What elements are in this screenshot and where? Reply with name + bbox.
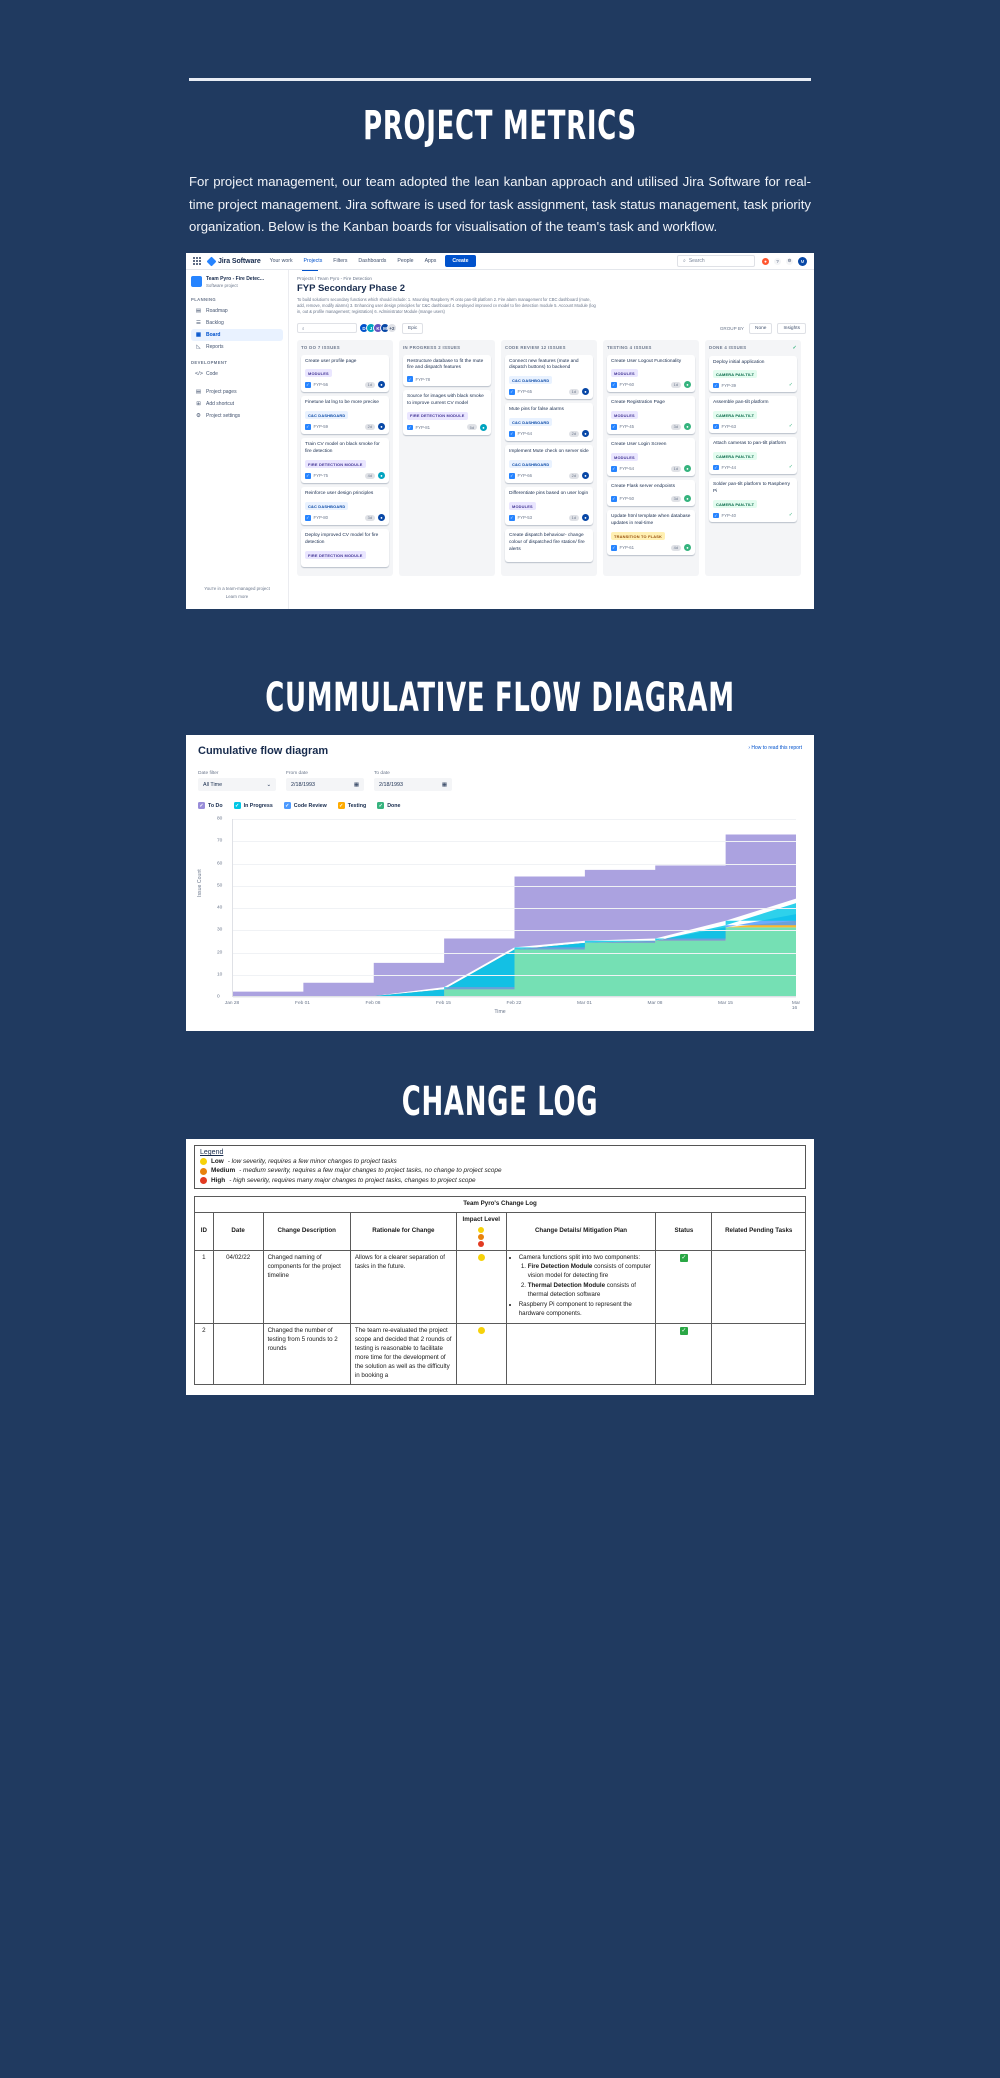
avatar[interactable]: ● [684, 544, 691, 551]
issue-key: FYP-81 [416, 425, 431, 430]
y-axis-label: Issue Count [197, 869, 203, 897]
code-icon: </> [195, 371, 202, 377]
issue-key: FYP-53 [518, 515, 533, 520]
x-tick-label: Mar 08 [648, 1001, 663, 1006]
issue-key: FYP-40 [722, 513, 737, 518]
cell-id: 2 [195, 1323, 214, 1384]
issue-estimate: 2d [569, 473, 579, 479]
issue-card[interactable]: Create dispatch behaviour- change colour… [505, 529, 593, 562]
avatar[interactable]: ● [378, 381, 385, 388]
issue-card[interactable]: Update html template when database updat… [607, 510, 695, 555]
issue-estimate: 3d [365, 515, 375, 521]
app-switcher-icon[interactable] [193, 257, 201, 265]
cell-date [213, 1323, 263, 1384]
issue-tag: TRANSITION TO FLASK [611, 532, 665, 540]
column-header: TESTING 4 ISSUES [607, 345, 695, 350]
issue-tag: MODULES [611, 411, 638, 419]
severity-dot-low-icon [200, 1158, 207, 1165]
issue-type-icon [611, 545, 617, 551]
severity-dot-medium-icon [200, 1168, 207, 1175]
sidebar-item-project-pages[interactable]: ▤Project pages [191, 386, 283, 398]
board-title: FYP Secondary Phase 2 [297, 283, 806, 294]
status-check-icon: ✓ [680, 1254, 688, 1262]
done-check-icon: ✓ [789, 512, 793, 518]
legend-item-codereview[interactable]: ✓Code Review [284, 802, 327, 809]
issue-title: Create User Logout Functionality [611, 359, 691, 366]
sidebar-item-board[interactable]: ▦Board [191, 329, 283, 341]
issue-type-icon [305, 382, 311, 388]
y-tick-label: 10 [217, 972, 222, 977]
issue-card[interactable]: Assemble pan-tilt platformCAMERA PAN-TIL… [709, 396, 797, 433]
sidebar-item-project-settings[interactable]: ⚙Project settings [191, 410, 283, 422]
legend-item-inprogress[interactable]: ✓In Progress [234, 802, 273, 809]
board-description: To build solution's secondary functions … [297, 297, 597, 315]
issue-card[interactable]: Reinforce user design principlesC&C DASH… [301, 487, 389, 525]
issue-key: FYP-63 [722, 424, 737, 429]
project-type: Software project [206, 283, 238, 288]
sidebar-footer: You're in a team-managed project Learn m… [186, 585, 288, 601]
issue-title: Create User Login Screen [611, 442, 691, 449]
group-by-select[interactable]: None [749, 323, 772, 334]
gridline [233, 841, 796, 842]
checkbox-icon[interactable]: ✓ [234, 802, 241, 809]
y-tick-label: 0 [217, 995, 220, 1000]
avatar[interactable]: ● [684, 381, 691, 388]
col-details: Change Details/ Mitigation Plan [506, 1212, 656, 1250]
issue-type-icon [713, 424, 719, 430]
gear-icon[interactable]: ⚙ [786, 258, 793, 265]
board-toolbar-right: GROUP BY None Insights [720, 323, 806, 334]
legend-title: Legend [200, 1149, 800, 1156]
insights-button[interactable]: Insights [777, 323, 806, 334]
checkbox-icon[interactable]: ✓ [198, 802, 205, 809]
issue-title: Reinforce user design principles [305, 491, 385, 498]
cfd-plot-area [232, 819, 796, 997]
shortcut-icon: ⊞ [195, 401, 202, 407]
col-impact: Impact Level [456, 1212, 506, 1250]
x-tick-label: Jan 28 [225, 1001, 239, 1006]
issue-key: FYP-75 [314, 473, 329, 478]
issue-meta: FYP-541d● [611, 465, 691, 472]
col-date: Date [213, 1212, 263, 1250]
issue-tag: MODULES [611, 369, 638, 377]
from-date-group: From date 2/18/1993▦ [286, 771, 364, 791]
legend-text: - low severity, requires a few minor cha… [228, 1157, 397, 1166]
cell-related [712, 1323, 806, 1384]
sub-item-bold: Fire Detection Module [528, 1263, 593, 1270]
member-avatars[interactable]: D J K M +2 [362, 323, 397, 333]
breadcrumb[interactable]: Projects / Team Pyro - Fire Detection [297, 276, 806, 281]
issue-meta: FYP-815d● [407, 424, 487, 431]
cfd-title: Cumulative flow diagram [198, 745, 328, 757]
sidebar-item-label: Board [206, 332, 220, 338]
jira-top-nav: Jira Software Your work Projects Filters… [186, 253, 814, 270]
cfd-legend: ✓To Do ✓In Progress ✓Code Review ✓Testin… [198, 802, 802, 809]
board-column-codereview: CODE REVIEW 12 ISSUES Connect new featur… [501, 340, 597, 577]
y-tick-label: 60 [217, 861, 222, 866]
gridline [233, 953, 796, 954]
changelog-table: Team Pyro's Change Log ID Date Change De… [194, 1196, 806, 1385]
legend-text: - medium severity, requires a few major … [239, 1166, 501, 1175]
avatar[interactable]: ● [582, 388, 589, 395]
nav-projects[interactable]: Projects [302, 255, 325, 267]
issue-tag: FIRE DETECTION MODULE [305, 551, 366, 559]
impact-dot-medium-icon [478, 1234, 484, 1240]
sidebar-item-label: Add shortcut [206, 401, 234, 407]
issue-key: FYP-60 [620, 382, 635, 387]
team-managed-note: You're in a team-managed project [186, 585, 288, 593]
avatar[interactable]: ● [582, 514, 589, 521]
issue-key: FYP-66 [518, 473, 533, 478]
issue-title: Solder pan-tilt platform to Raspberry Pi [713, 482, 793, 496]
sidebar-item-code[interactable]: </>Code [191, 368, 283, 380]
jira-logo[interactable]: Jira Software [208, 258, 261, 265]
project-name: Team Pyro - Fire Detec... [206, 276, 264, 282]
cfd-filters: Date filter All Time⌄ From date 2/18/199… [198, 771, 802, 791]
issue-key: FYP-54 [620, 466, 635, 471]
jira-diamond-icon [207, 256, 217, 266]
issue-tag: MODULES [509, 502, 536, 510]
chevron-down-icon: ⌄ [266, 782, 271, 788]
issue-key: FYP-61 [620, 545, 635, 550]
details-sub-item: Thermal Detection Module consists of the… [528, 1282, 652, 1300]
to-date-input[interactable]: 2/18/1993▦ [374, 778, 452, 791]
column-header: CODE REVIEW 12 ISSUES [505, 345, 593, 350]
col-id: ID [195, 1212, 214, 1250]
create-button[interactable]: Create [445, 255, 475, 267]
legend-level: Low [211, 1157, 224, 1166]
issue-type-icon [509, 515, 515, 521]
cell-status: ✓ [656, 1323, 712, 1384]
y-tick-label: 70 [217, 839, 222, 844]
issue-card[interactable]: Create Flask server endpointsFYP-503d● [607, 480, 695, 506]
details-sub-item: Fire Detection Module consists of comput… [528, 1263, 652, 1281]
help-icon[interactable]: ? [774, 258, 781, 265]
y-tick-label: 20 [217, 950, 222, 955]
issue-type-icon [305, 515, 311, 521]
issue-estimate: 2d [365, 424, 375, 430]
avatar[interactable]: ● [378, 472, 385, 479]
table-caption: Team Pyro's Change Log [195, 1196, 806, 1212]
issue-key: FYP-64 [518, 431, 533, 436]
issue-meta: FYP-63✓ [713, 423, 793, 429]
backlog-icon: ☰ [195, 320, 202, 326]
table-caption-row: Team Pyro's Change Log [195, 1196, 806, 1212]
group-by-label: GROUP BY [720, 326, 744, 331]
checkbox-icon[interactable]: ✓ [284, 802, 291, 809]
issue-card[interactable]: Implement Mute check on server sideC&C D… [505, 445, 593, 483]
done-check-icon: ✓ [789, 423, 793, 429]
details-bullet-list: Camera functions split into two componen… [519, 1254, 652, 1319]
issue-card[interactable]: Solder pan-tilt platform to Raspberry Pi… [709, 478, 797, 522]
sidebar-item-label: Backlog [206, 320, 224, 326]
checkbox-icon[interactable]: ✓ [377, 802, 384, 809]
to-date-label: To date [374, 771, 452, 776]
calendar-icon[interactable]: ▦ [442, 782, 447, 788]
board-toolbar: ⌕ D J K M +2 Epic GROUP BY None Insights [297, 323, 806, 334]
done-check-icon: ✓ [789, 464, 793, 470]
y-tick-label: 80 [217, 817, 222, 822]
avatar[interactable]: ● [684, 495, 691, 502]
cell-description: Changed the number of testing from 5 rou… [263, 1323, 350, 1384]
issue-estimate: 1d [671, 382, 681, 388]
issue-type-icon [305, 424, 311, 430]
nav-filters[interactable]: Filters [331, 255, 349, 267]
sidebar-item-label: Reports [206, 344, 224, 350]
issue-card[interactable]: Restructure database to fit the mute fir… [403, 355, 491, 386]
legend-label: In Progress [244, 803, 273, 809]
impact-dot-high-icon [478, 1241, 484, 1247]
legend-label: Testing [348, 803, 366, 809]
issue-meta: FYP-754d● [305, 472, 385, 479]
jira-main: Projects / Team Pyro - Fire Detection FY… [289, 270, 814, 609]
avatar-more[interactable]: +2 [387, 323, 397, 333]
column-header: DONE 4 ISSUES✓ [709, 345, 797, 351]
avatar[interactable]: ● [480, 424, 487, 431]
nav-dashboards[interactable]: Dashboards [356, 255, 388, 267]
cell-id: 1 [195, 1250, 214, 1323]
issue-type-icon [713, 465, 719, 471]
issue-key: FYP-50 [620, 496, 635, 501]
from-date-value: 2/18/1993 [291, 782, 315, 788]
changelog-screenshot: Legend Low- low severity, requires a few… [186, 1139, 814, 1395]
issue-card[interactable]: Connect new features (mute and dispatch … [505, 355, 593, 400]
impact-dot-scale [461, 1227, 502, 1247]
done-check-icon: ✓ [789, 382, 793, 388]
avatar[interactable]: ● [684, 465, 691, 472]
jira-brand-label: Jira Software [218, 258, 261, 265]
to-date-group: To date 2/18/1993▦ [374, 771, 452, 791]
gridline [233, 819, 796, 820]
legend-level: High [211, 1176, 225, 1185]
cell-rationale: The team re-evaluated the project scope … [350, 1323, 456, 1384]
jira-board-screenshot: Jira Software Your work Projects Filters… [186, 253, 814, 609]
legend-row-high: High- high severity, requires many major… [200, 1176, 800, 1185]
issue-card[interactable]: Create User Logout FunctionalityMODULESF… [607, 355, 695, 393]
issue-card[interactable]: Deploy initial applicationCAMERA PAN-TIL… [709, 356, 797, 393]
from-date-label: From date [286, 771, 364, 776]
legend-label: Done [387, 803, 400, 809]
sidebar-item-backlog[interactable]: ☰Backlog [191, 317, 283, 329]
gridline [233, 975, 796, 976]
checkbox-icon[interactable]: ✓ [338, 802, 345, 809]
reports-icon: ◺ [195, 344, 202, 350]
search-placeholder: Search [689, 258, 705, 264]
board-search-input[interactable]: ⌕ [297, 323, 357, 333]
issue-card[interactable]: Train CV model on black smoke for fire d… [301, 438, 389, 483]
issue-title: Assemble pan-tilt platform [713, 400, 793, 407]
sidebar-project-header[interactable]: Team Pyro - Fire Detec... Software proje… [191, 276, 283, 289]
x-tick-label: Mar 15 [718, 1001, 733, 1006]
issue-type-icon [713, 513, 719, 519]
sidebar-item-label: Project pages [206, 389, 237, 395]
issue-key: FYP-56 [314, 382, 329, 387]
search-icon: ⌕ [683, 258, 686, 264]
sidebar-item-add-shortcut[interactable]: ⊞Add shortcut [191, 398, 283, 410]
avatar[interactable]: ● [582, 430, 589, 437]
intro-paragraph: For project management, our team adopted… [189, 171, 811, 239]
avatar[interactable]: M [798, 257, 807, 266]
issue-estimate: 5d [467, 424, 477, 430]
issue-meta: FYP-531d● [509, 514, 589, 521]
issue-tag: C&C DASHBOARD [509, 460, 552, 468]
board-columns: TO DO 7 ISSUES Create user profile pageM… [297, 340, 806, 577]
cell-rationale: Allows for a clearer separation of tasks… [350, 1250, 456, 1323]
issue-tag: CAMERA PAN-TILT [713, 411, 757, 419]
avatar[interactable]: ● [378, 423, 385, 430]
issue-title: Attach cameras to pan-tilt platform [713, 441, 793, 448]
issue-type-icon [305, 473, 311, 479]
cell-date: 04/02/22 [213, 1250, 263, 1323]
impact-dot-low-icon [478, 1327, 485, 1334]
issue-estimate: 3d [671, 496, 681, 502]
issue-tag: MODULES [305, 369, 332, 377]
issue-card[interactable]: Attach cameras to pan-tilt platformCAMER… [709, 437, 797, 474]
issue-meta: FYP-39✓ [713, 382, 793, 388]
sidebar-item-label: Project settings [206, 413, 240, 419]
sidebar-item-reports[interactable]: ◺Reports [191, 341, 283, 353]
to-date-value: 2/18/1993 [379, 782, 403, 788]
cell-details: Camera functions split into two componen… [506, 1250, 656, 1323]
epic-filter-button[interactable]: Epic [402, 323, 423, 334]
nav-icon-group: ● ? ⚙ M [762, 257, 807, 266]
legend-item-done[interactable]: ✓Done [377, 802, 400, 809]
legend-item-testing[interactable]: ✓Testing [338, 802, 366, 809]
avatar[interactable]: ● [684, 423, 691, 430]
avatar[interactable]: ● [582, 472, 589, 479]
roadmap-icon: ▤ [195, 308, 202, 314]
date-filter-value: All Time [203, 782, 222, 788]
issue-key: FYP-80 [314, 515, 329, 520]
details-bullet: Raspberry Pi component to represent the … [519, 1301, 652, 1319]
issue-tag: CAMERA PAN-TILT [713, 452, 757, 460]
nav-your-work[interactable]: Your work [268, 255, 295, 267]
column-header-label: DONE 4 ISSUES [709, 345, 747, 351]
issue-card[interactable]: Differentiate pins based on user loginMO… [505, 487, 593, 525]
column-header: IN PROGRESS 2 ISSUES [403, 345, 491, 350]
avatar[interactable]: ● [378, 514, 385, 521]
issue-title: Update html template when database updat… [611, 514, 691, 528]
issue-card[interactable]: Create Registration PageMODULESFYP-453d● [607, 396, 695, 434]
section-title-changelog: CHANGE LOG [140, 1079, 860, 1125]
issue-title: Train CV model on black smoke for fire d… [305, 442, 385, 456]
legend-row-low: Low- low severity, requires a few minor … [200, 1157, 800, 1166]
notifications-icon[interactable]: ● [762, 258, 769, 265]
issue-meta: FYP-642d● [509, 430, 589, 437]
issue-tag: C&C DASHBOARD [305, 411, 348, 419]
issue-title: Connect new features (mute and dispatch … [509, 359, 589, 373]
jira-sidebar: Team Pyro - Fire Detec... Software proje… [186, 270, 289, 609]
issue-title: Source for images with black smoke to im… [407, 394, 487, 408]
issue-meta: FYP-662d● [509, 472, 589, 479]
from-date-input[interactable]: 2/18/1993▦ [286, 778, 364, 791]
board-column-testing: TESTING 4 ISSUES Create User Logout Func… [603, 340, 699, 577]
x-tick-label: Feb 22 [507, 1001, 522, 1006]
severity-legend: Legend Low- low severity, requires a few… [194, 1145, 806, 1189]
legend-text: - high severity, requires many major cha… [229, 1176, 475, 1185]
sidebar-item-label: Code [206, 371, 218, 377]
issue-key: FYP-65 [518, 389, 533, 394]
board-icon: ▦ [195, 332, 202, 338]
col-status: Status [656, 1212, 712, 1250]
issue-key: FYP-44 [722, 465, 737, 470]
issue-estimate: 1d [569, 389, 579, 395]
col-related: Related Pending Tasks [712, 1212, 806, 1250]
issue-tag: FIRE DETECTION MODULE [305, 460, 366, 468]
issue-title: Restructure database to fit the mute fir… [407, 359, 487, 373]
y-tick-label: 30 [217, 928, 222, 933]
details-bullet-text: Camera functions split into two componen… [519, 1254, 640, 1261]
issue-tag: C&C DASHBOARD [509, 376, 552, 384]
date-filter-group: Date filter All Time⌄ [198, 771, 276, 791]
cfd-header: Cumulative flow diagram › How to read th… [198, 745, 802, 757]
x-tick-label: Feb 08 [366, 1001, 381, 1006]
issue-tag: C&C DASHBOARD [305, 502, 348, 510]
details-sub-list: Fire Detection Module consists of comput… [528, 1263, 652, 1300]
issue-type-icon [611, 496, 617, 502]
cell-impact [456, 1323, 506, 1384]
issue-tag: MODULES [611, 453, 638, 461]
issue-type-icon [407, 425, 413, 431]
issue-card[interactable]: Source for images with black smoke to im… [403, 390, 491, 435]
issue-tag: CAMERA PAN-TILT [713, 500, 757, 508]
col-rationale: Rationale for Change [350, 1212, 456, 1250]
cell-status: ✓ [656, 1250, 712, 1323]
how-to-read-link[interactable]: › How to read this report [748, 745, 802, 751]
gridline [233, 886, 796, 887]
nav-apps[interactable]: Apps [423, 255, 439, 267]
issue-card[interactable]: Create User Login ScreenMODULESFYP-541d● [607, 438, 695, 476]
sidebar-group-development: DEVELOPMENT [191, 360, 283, 365]
issue-tag: FIRE DETECTION MODULE [407, 412, 468, 420]
check-icon: ✓ [792, 345, 797, 351]
sidebar-item-roadmap[interactable]: ▤Roadmap [191, 305, 283, 317]
cell-description: Changed naming of components for the pro… [263, 1250, 350, 1323]
table-row: 1 04/02/22 Changed naming of components … [195, 1250, 806, 1323]
legend-label: Code Review [294, 803, 327, 809]
sub-item-bold: Thermal Detection Module [528, 1282, 605, 1289]
learn-more-link[interactable]: Learn more [186, 593, 288, 601]
issue-title: Deploy initial application [713, 360, 793, 367]
issue-title: Finetune lat lng to be more precise [305, 400, 385, 407]
issue-title: Mute pins for false alarms [509, 407, 589, 414]
board-column-inprogress: IN PROGRESS 2 ISSUES Restructure databas… [399, 340, 495, 577]
legend-label: To Do [208, 803, 223, 809]
issue-card[interactable]: Mute pins for false alarmsC&C DASHBOARDF… [505, 403, 593, 441]
issue-card[interactable]: Finetune lat lng to be more preciseC&C D… [301, 396, 389, 434]
issue-estimate: 4d [365, 473, 375, 479]
page-title: PROJECT METRICS [140, 103, 860, 149]
y-tick-label: 40 [217, 906, 222, 911]
issue-title: Create user profile page [305, 359, 385, 366]
issue-card[interactable]: Deploy improved CV model for fire detect… [301, 529, 389, 567]
status-check-icon: ✓ [680, 1327, 688, 1335]
calendar-icon[interactable]: ▦ [354, 782, 359, 788]
global-search-input[interactable]: ⌕ Search [677, 255, 755, 267]
table-row: 2 Changed the number of testing from 5 r… [195, 1323, 806, 1384]
issue-estimate: 1d [365, 382, 375, 388]
nav-people[interactable]: People [395, 255, 415, 267]
legend-item-todo[interactable]: ✓To Do [198, 802, 223, 809]
date-filter-select[interactable]: All Time⌄ [198, 778, 276, 791]
issue-key: FYP-59 [314, 424, 329, 429]
board-column-todo: TO DO 7 ISSUES Create user profile pageM… [297, 340, 393, 577]
col-impact-label: Impact Level [463, 1216, 501, 1223]
x-axis-label: Time [198, 1009, 802, 1015]
issue-meta: FYP-453d● [611, 423, 691, 430]
issue-card[interactable]: Create user profile pageMODULESFYP-561d● [301, 355, 389, 393]
sidebar-item-label: Roadmap [206, 308, 228, 314]
